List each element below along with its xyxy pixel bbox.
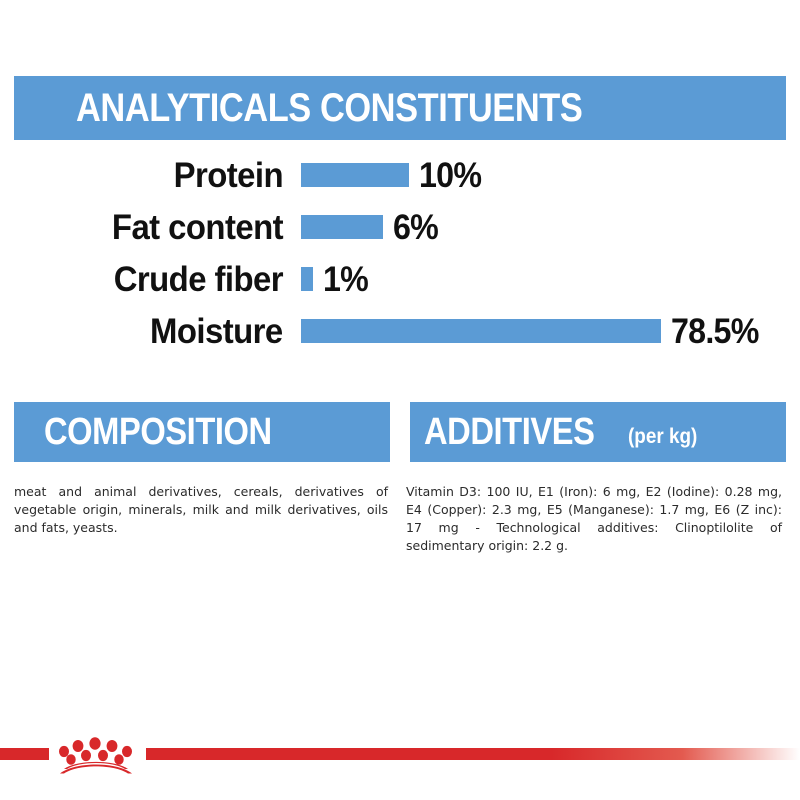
chart-row-fat-content: Fat content6% [0,202,800,252]
chart-row-protein: Protein10% [0,150,800,200]
chart-bar-crude-fiber [301,267,313,291]
composition-body-text: meat and animal derivatives, cereals, de… [14,483,388,537]
chart-bar-wrap: 6% [301,210,661,245]
footer-rule-left [0,748,49,760]
royal-canin-crown-icon [55,735,141,775]
chart-bar-protein [301,163,409,187]
chart-value-moisture: 78.5% [671,314,759,349]
additives-banner: ADDITIVES (per kg) [410,402,786,462]
chart-value-protein: 10% [419,158,481,193]
chart-label-fat-content: Fat content [17,210,283,245]
nutrition-bar-chart: Protein10%Fat content6%Crude fiber1%Mois… [0,150,800,365]
chart-row-crude-fiber: Crude fiber1% [0,254,800,304]
chart-label-moisture: Moisture [17,314,283,349]
chart-row-moisture: Moisture78.5% [0,306,800,356]
chart-bar-moisture [301,319,661,343]
chart-bar-fat-content [301,215,383,239]
chart-bar-wrap: 1% [301,262,661,297]
additives-title: ADDITIVES [424,413,594,451]
chart-label-protein: Protein [17,158,283,193]
chart-label-crude-fiber: Crude fiber [17,262,283,297]
additives-body-text: Vitamin D3: 100 IU, E1 (Iron): 6 mg, E2 … [406,483,782,555]
footer-rule-right [146,748,800,760]
composition-title: COMPOSITION [44,413,272,451]
brand-footer [0,735,800,775]
product-nutrition-panel: ANALYTICALS CONSTITUENTS Protein10%Fat c… [0,0,800,800]
composition-banner: COMPOSITION [14,402,390,462]
additives-subtitle-per-kg: (per kg) [628,426,697,447]
chart-bar-wrap: 78.5% [301,314,800,349]
analyticals-constituents-banner: ANALYTICALS CONSTITUENTS [14,76,786,140]
chart-value-fat-content: 6% [393,210,438,245]
analyticals-constituents-title: ANALYTICALS CONSTITUENTS [76,88,582,128]
chart-value-crude-fiber: 1% [323,262,368,297]
chart-bar-wrap: 10% [301,158,661,193]
